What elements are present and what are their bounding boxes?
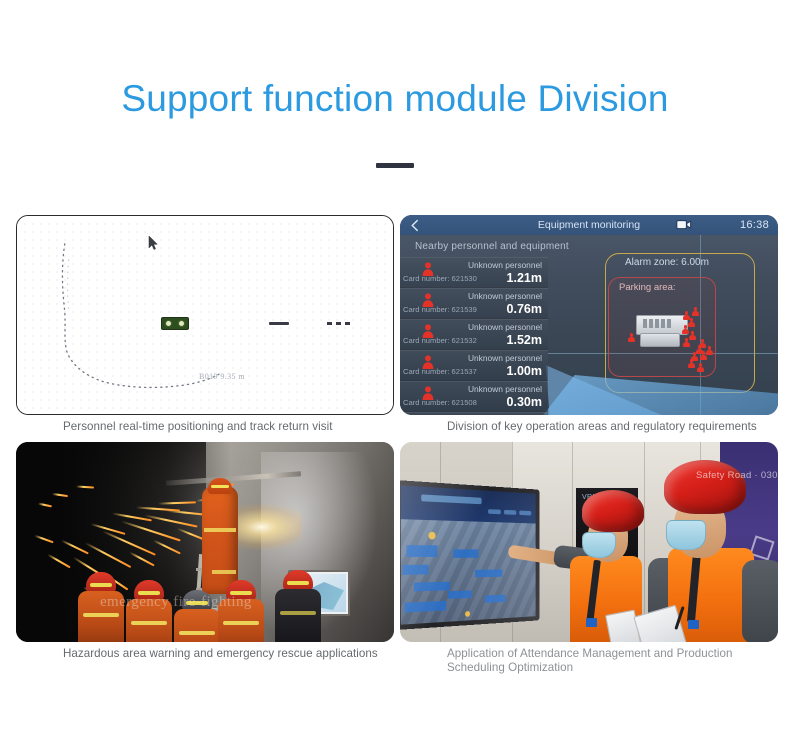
clock-time: 16:38 [740,219,769,231]
personnel-marker [692,307,699,316]
screen-title-bar [421,494,481,504]
page-title: Support function module Division [0,0,790,121]
card-attendance-scheduling[interactable]: VRM [400,442,778,675]
list-item-card: Card number: 621532 [403,336,477,345]
track-segment-bar [269,322,289,325]
tracking-canvas: B019 9.35 m [17,216,393,414]
parking-area-label: Parking area: [619,282,676,293]
title-divider [376,163,414,168]
list-item[interactable]: Unknown personnel Card number: 621530 1.… [400,257,548,288]
dash-1 [327,322,332,325]
list-item-distance: 0.76m [507,302,542,316]
list-item-distance: 1.00m [507,364,542,378]
thumbnail-attendance-scheduling[interactable]: VRM [400,442,778,642]
equipment-marker-icon[interactable] [161,317,189,330]
screen-header [401,485,536,523]
list-item-name: Unknown personnel [468,384,542,394]
reflective-stripe [204,528,236,532]
rescue-photo: emergency fire-fighting [16,442,394,642]
personnel-marker [688,359,695,368]
list-item[interactable]: Unknown personnel Card number: 621537 1.… [400,350,548,381]
camera-icon[interactable] [676,218,692,231]
app-top-bar: Equipment monitoring 16:38 [400,215,778,235]
marker-dot-left [165,320,172,327]
personnel-marker [697,363,704,372]
watermark: Safety Road · 030 [696,470,778,481]
card-caption: Division of key operation areas and regu… [400,420,778,434]
alarm-zone-label: Alarm zone: 6.00m [625,257,709,268]
marker-dot-right [178,320,185,327]
crew-member [267,570,329,642]
personnel-marker [628,333,635,342]
card-hazardous-area-rescue[interactable]: emergency fire-fighting Hazardous area w… [16,442,394,675]
list-item-distance: 0.30m [507,395,542,409]
thumbnail-personnel-tracking[interactable]: B019 9.35 m [16,215,394,415]
sleeve [742,560,778,642]
list-item-name: Unknown personnel [468,291,542,301]
thumbnail-hazardous-area-rescue[interactable]: emergency fire-fighting [16,442,394,642]
equipment-monitoring-ui: Alarm zone: 6.00m Parking area: Equipmen… [400,215,778,415]
nearby-personnel-list[interactable]: Unknown personnel Card number: 621530 1.… [400,257,548,415]
worker-helmet [208,478,232,494]
nearby-panel-label: Nearby personnel and equipment [415,241,569,252]
cards-grid: B019 9.35 m Personnel real-time position… [16,215,774,675]
watermark: emergency fire-fighting [100,594,252,611]
thumbnail-equipment-monitoring[interactable]: Alarm zone: 6.00m Parking area: Equipmen… [400,215,778,415]
page-root: Support function module Division [0,0,790,743]
personnel-marker [682,325,689,334]
card-personnel-tracking[interactable]: B019 9.35 m Personnel real-time position… [16,215,394,434]
personnel-marker [683,338,690,347]
crew-member [211,580,271,642]
list-item[interactable]: Unknown personnel Card number: 621532 1.… [400,319,548,350]
personnel-marker [688,318,695,327]
list-item[interactable]: Unknown personnel Card number: 621508 0.… [400,381,548,412]
personnel-marker [706,346,713,355]
safety-helmet [582,490,644,532]
personnel-marker [699,339,706,348]
list-item[interactable]: Unknown personnel Card number: 621539 0.… [400,288,548,319]
list-item-distance: 1.21m [507,271,542,285]
app-title: Equipment monitoring [538,219,640,231]
list-item-card: Card number: 621539 [403,305,477,314]
track-segment-dashes [327,322,350,325]
personnel-marker [689,331,696,340]
list-item-card: Card number: 621530 [403,274,477,283]
track-path [17,216,393,415]
card-caption: Personnel real-time positioning and trac… [16,420,394,434]
screen-site-view [401,519,536,625]
list-item-name: Unknown personnel [468,260,542,270]
track-faint-label: B019 9.35 m [199,372,245,381]
safety-helmet [664,460,746,514]
face-mask [666,520,706,550]
worker-back [656,462,778,642]
card-caption: Application of Attendance Management and… [400,647,778,675]
dash-3 [345,322,350,325]
control-room-photo: VRM [400,442,778,642]
card-equipment-monitoring[interactable]: Alarm zone: 6.00m Parking area: Equipmen… [400,215,778,434]
list-item-card: Card number: 621508 [403,398,477,407]
screen-nav-chips [488,509,531,515]
list-item-name: Unknown personnel [468,353,542,363]
list-item-card: Card number: 621537 [403,367,477,376]
vest-badge [688,620,699,629]
title-divider-wrap [0,163,790,168]
list-item-partial[interactable] [400,412,548,415]
list-item-distance: 1.52m [507,333,542,347]
mouse-pointer-icon [148,236,158,250]
vest-badge [586,618,597,627]
card-caption: Hazardous area warning and emergency res… [16,647,394,661]
face-mask [582,532,616,558]
back-arrow-icon[interactable] [409,219,422,232]
dash-2 [336,322,341,325]
list-item-name: Unknown personnel [468,322,542,332]
